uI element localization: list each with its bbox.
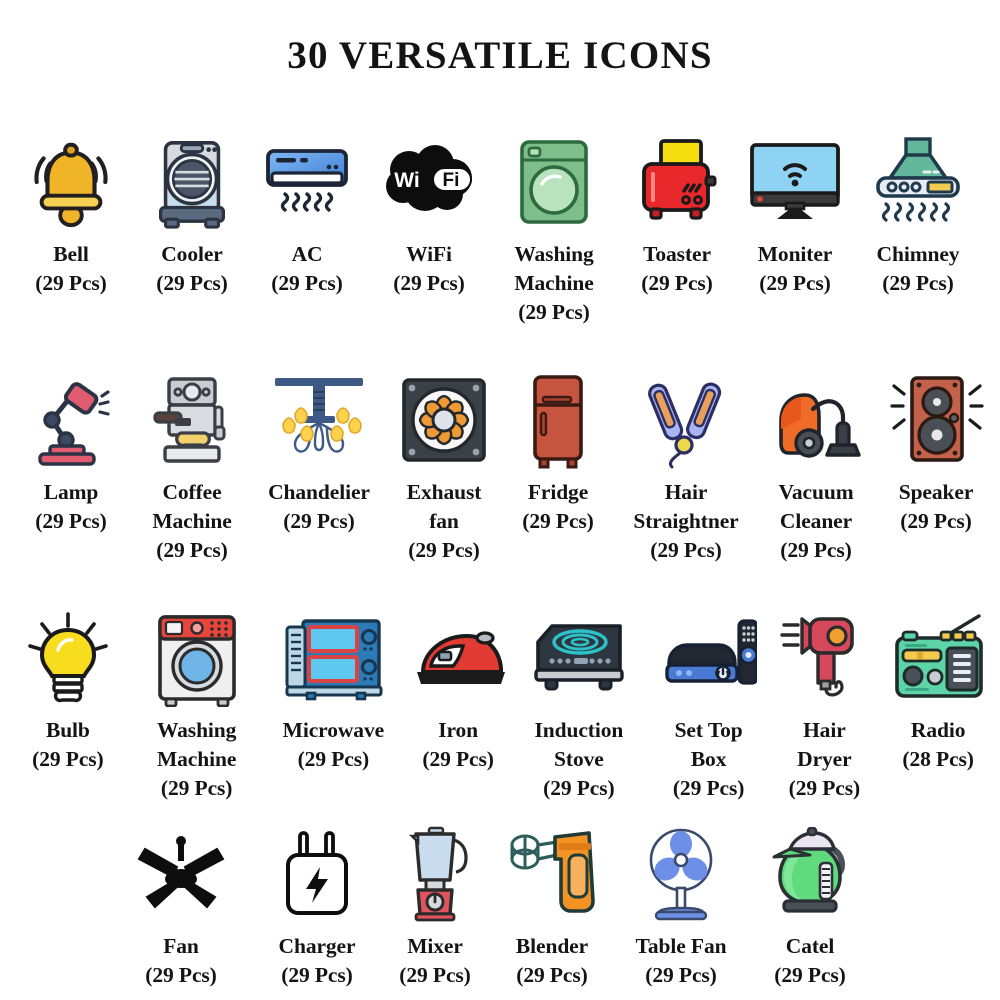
iron-icon bbox=[409, 606, 507, 710]
bulb-icon bbox=[22, 606, 114, 710]
icon-pcs: (29 Pcs) bbox=[271, 269, 342, 298]
icon-cell-hair-dryer[interactable]: Hair Dryer (29 Pcs) bbox=[772, 606, 876, 802]
icon-label: Coffee Machine bbox=[152, 480, 231, 533]
icon-label: Fridge bbox=[528, 480, 588, 504]
icon-cell-washing-machine-1[interactable]: Washing Machine (29 Pcs) bbox=[490, 130, 618, 326]
icon-pcs: (29 Pcs) bbox=[157, 774, 236, 803]
icon-pcs: (29 Pcs) bbox=[156, 269, 227, 298]
icon-pcs: (29 Pcs) bbox=[279, 961, 356, 990]
icon-pcs: (29 Pcs) bbox=[877, 269, 960, 298]
microwave-icon bbox=[281, 606, 385, 710]
icon-cell-ac[interactable]: AC (29 Pcs) bbox=[251, 130, 363, 298]
icon-pcs: (29 Pcs) bbox=[35, 507, 106, 536]
icon-label: Iron bbox=[438, 718, 478, 742]
icon-label: Bell bbox=[53, 242, 88, 266]
icon-cell-fridge[interactable]: Fridge (29 Pcs) bbox=[502, 368, 614, 536]
icon-caption-wifi: WiFi (29 Pcs) bbox=[393, 240, 464, 298]
icon-caption-toaster: Toaster (29 Pcs) bbox=[641, 240, 712, 298]
icon-cell-exhaust-fan[interactable]: Exhaust fan (29 Pcs) bbox=[386, 368, 502, 564]
icon-caption-fridge: Fridge (29 Pcs) bbox=[522, 478, 593, 536]
icon-caption-coffee-machine: Coffee Machine (29 Pcs) bbox=[152, 478, 231, 564]
icon-cell-charger[interactable]: Charger (29 Pcs) bbox=[254, 822, 380, 990]
page-title: 30 VERSATILE ICONS bbox=[0, 33, 1000, 78]
icon-caption-cooler: Cooler (29 Pcs) bbox=[156, 240, 227, 298]
hair-dryer-icon bbox=[780, 606, 868, 710]
icon-caption-speaker: Speaker (29 Pcs) bbox=[899, 478, 974, 536]
table-fan-icon bbox=[642, 822, 720, 926]
icon-pcs: (29 Pcs) bbox=[774, 961, 845, 990]
icon-label: Microwave bbox=[283, 718, 384, 742]
washing-machine-green-icon bbox=[512, 130, 596, 234]
icon-caption-hair-dryer: Hair Dryer (29 Pcs) bbox=[789, 716, 860, 802]
icon-label: Vacuum Cleaner bbox=[778, 480, 853, 533]
ac-icon bbox=[257, 130, 357, 234]
icon-pcs: (29 Pcs) bbox=[283, 745, 384, 774]
icon-caption-table-fan: Table Fan (29 Pcs) bbox=[636, 932, 727, 990]
icon-label: Washing Machine bbox=[514, 242, 593, 295]
icon-cell-fan[interactable]: Fan (29 Pcs) bbox=[120, 822, 242, 990]
icon-caption-induction-stove: Induction Stove (29 Pcs) bbox=[535, 716, 624, 802]
icon-caption-exhaust-fan: Exhaust fan (29 Pcs) bbox=[407, 478, 482, 564]
icon-pcs: (29 Pcs) bbox=[789, 774, 860, 803]
washing-machine-icon bbox=[150, 606, 244, 710]
set-top-box-icon bbox=[661, 606, 757, 710]
icon-label: AC bbox=[292, 242, 323, 266]
icon-pcs: (29 Pcs) bbox=[673, 774, 744, 803]
icon-cell-lamp[interactable]: Lamp (29 Pcs) bbox=[12, 368, 130, 536]
icon-pcs: (29 Pcs) bbox=[393, 269, 464, 298]
hair-straightener-icon bbox=[638, 368, 734, 472]
kettle-icon bbox=[764, 822, 856, 926]
icon-cell-chimney[interactable]: Chimney (29 Pcs) bbox=[854, 130, 982, 298]
icon-caption-set-top-box: Set Top Box (29 Pcs) bbox=[673, 716, 744, 802]
icon-label: Speaker bbox=[899, 480, 974, 504]
blender-icon bbox=[505, 822, 599, 926]
icon-pcs: (29 Pcs) bbox=[636, 961, 727, 990]
icon-caption-radio: Radio (28 Pcs) bbox=[902, 716, 973, 774]
icon-cell-chandelier[interactable]: Chandelier (29 Pcs) bbox=[254, 368, 384, 536]
icon-caption-iron: Iron (29 Pcs) bbox=[422, 716, 493, 774]
icon-pcs: (29 Pcs) bbox=[522, 507, 593, 536]
ceiling-fan-icon bbox=[133, 822, 229, 926]
icon-label: Mixer bbox=[407, 934, 463, 958]
icon-label: Blender bbox=[516, 934, 588, 958]
icon-pcs: (29 Pcs) bbox=[516, 961, 588, 990]
coffee-machine-icon bbox=[147, 368, 237, 472]
icon-label: Lamp bbox=[44, 480, 99, 504]
lamp-icon bbox=[22, 368, 120, 472]
icon-cell-toaster[interactable]: Toaster (29 Pcs) bbox=[618, 130, 736, 298]
icon-cell-kettle[interactable]: Catel (29 Pcs) bbox=[748, 822, 872, 990]
icon-cell-washing-machine-2[interactable]: Washing Machine (29 Pcs) bbox=[130, 606, 264, 802]
icon-caption-lamp: Lamp (29 Pcs) bbox=[35, 478, 106, 536]
mixer-icon bbox=[398, 822, 472, 926]
icon-pcs: (29 Pcs) bbox=[778, 536, 853, 565]
icon-cell-radio[interactable]: Radio (28 Pcs) bbox=[876, 606, 1000, 774]
icon-label: Hair Straightner bbox=[633, 480, 738, 533]
icon-pcs: (29 Pcs) bbox=[641, 269, 712, 298]
chandelier-icon bbox=[269, 368, 369, 472]
icon-label: Catel bbox=[786, 934, 834, 958]
icon-cell-induction-stove[interactable]: Induction Stove (29 Pcs) bbox=[513, 606, 645, 802]
icon-caption-charger: Charger (29 Pcs) bbox=[279, 932, 356, 990]
icon-cell-bell[interactable]: Bell (29 Pcs) bbox=[12, 130, 130, 298]
icon-label: Charger bbox=[279, 934, 356, 958]
charger-icon bbox=[276, 822, 358, 926]
icon-caption-fan: Fan (29 Pcs) bbox=[145, 932, 216, 990]
icon-label: WiFi bbox=[406, 242, 452, 266]
icon-pcs: (29 Pcs) bbox=[399, 961, 470, 990]
icon-pcs: (29 Pcs) bbox=[758, 269, 833, 298]
bell-icon bbox=[22, 130, 120, 234]
icon-pcs: (29 Pcs) bbox=[535, 774, 624, 803]
vacuum-cleaner-icon bbox=[769, 368, 863, 472]
icon-cell-coffee-machine[interactable]: Coffee Machine (29 Pcs) bbox=[130, 368, 254, 564]
icon-caption-washing-machine-1: Washing Machine (29 Pcs) bbox=[514, 240, 593, 326]
icon-caption-monitor: Moniter (29 Pcs) bbox=[758, 240, 833, 298]
icon-caption-blender: Blender (29 Pcs) bbox=[516, 932, 588, 990]
icon-cell-monitor[interactable]: Moniter (29 Pcs) bbox=[736, 130, 854, 298]
toaster-icon bbox=[630, 130, 724, 234]
induction-stove-icon bbox=[530, 606, 628, 710]
icon-pcs: (29 Pcs) bbox=[514, 298, 593, 327]
icon-row-3: Bulb (29 Pcs) bbox=[0, 606, 1000, 802]
icon-label: Chimney bbox=[877, 242, 960, 266]
icon-label: Fan bbox=[163, 934, 199, 958]
icon-label: Hair Dryer bbox=[797, 718, 851, 771]
icon-set-page: 30 VERSATILE ICONS Bell (29 Pcs) bbox=[0, 0, 1000, 1000]
radio-icon bbox=[887, 606, 989, 710]
icon-row-4: Fan (29 Pcs) Charger (29 Pcs) bbox=[0, 822, 1000, 990]
icon-pcs: (29 Pcs) bbox=[152, 536, 231, 565]
icon-cell-iron[interactable]: Iron (29 Pcs) bbox=[403, 606, 513, 774]
icon-pcs: (29 Pcs) bbox=[899, 507, 974, 536]
icon-cell-table-fan[interactable]: Table Fan (29 Pcs) bbox=[614, 822, 748, 990]
chimney-icon bbox=[868, 130, 968, 234]
icon-caption-vacuum-cleaner: Vacuum Cleaner (29 Pcs) bbox=[778, 478, 853, 564]
icon-cell-microwave[interactable]: Microwave (29 Pcs) bbox=[264, 606, 404, 774]
icon-cell-hair-straightener[interactable]: Hair Straightner (29 Pcs) bbox=[614, 368, 758, 564]
icon-label: Chandelier bbox=[268, 480, 370, 504]
icon-label: Moniter bbox=[758, 242, 833, 266]
icon-pcs: (29 Pcs) bbox=[633, 536, 738, 565]
svg-text:Fi: Fi bbox=[443, 170, 460, 191]
icon-caption-kettle: Catel (29 Pcs) bbox=[774, 932, 845, 990]
icon-caption-mixer: Mixer (29 Pcs) bbox=[399, 932, 470, 990]
icon-label: Exhaust fan bbox=[407, 480, 482, 533]
icon-label: Toaster bbox=[643, 242, 711, 266]
icon-pcs: (28 Pcs) bbox=[902, 745, 973, 774]
cooler-icon bbox=[147, 130, 237, 234]
icon-cell-speaker[interactable]: Speaker (29 Pcs) bbox=[874, 368, 998, 536]
speaker-icon bbox=[886, 368, 986, 472]
icon-label: Bulb bbox=[46, 718, 90, 742]
icon-cell-blender[interactable]: Blender (29 Pcs) bbox=[490, 822, 614, 990]
icon-pcs: (29 Pcs) bbox=[35, 269, 106, 298]
icon-caption-ac: AC (29 Pcs) bbox=[271, 240, 342, 298]
icon-caption-chandelier: Chandelier (29 Pcs) bbox=[268, 478, 370, 536]
icon-caption-bulb: Bulb (29 Pcs) bbox=[32, 716, 103, 774]
icon-cell-set-top-box[interactable]: Set Top Box (29 Pcs) bbox=[645, 606, 773, 802]
icon-row-2: Lamp (29 Pcs) bbox=[0, 368, 1000, 564]
icon-cell-bulb[interactable]: Bulb (29 Pcs) bbox=[10, 606, 126, 774]
icon-pcs: (29 Pcs) bbox=[422, 745, 493, 774]
icon-caption-bell: Bell (29 Pcs) bbox=[35, 240, 106, 298]
icon-pcs: (29 Pcs) bbox=[268, 507, 370, 536]
icon-caption-washing-machine-2: Washing Machine (29 Pcs) bbox=[157, 716, 236, 802]
icon-caption-chimney: Chimney (29 Pcs) bbox=[877, 240, 960, 298]
wifi-icon: Wi Fi bbox=[377, 130, 481, 234]
icon-label: Cooler bbox=[161, 242, 223, 266]
icon-pcs: (29 Pcs) bbox=[407, 536, 482, 565]
icon-cell-cooler[interactable]: Cooler (29 Pcs) bbox=[133, 130, 251, 298]
icon-cell-vacuum-cleaner[interactable]: Vacuum Cleaner (29 Pcs) bbox=[758, 368, 874, 564]
icon-pcs: (29 Pcs) bbox=[32, 745, 103, 774]
icon-pcs: (29 Pcs) bbox=[145, 961, 216, 990]
svg-text:Wi: Wi bbox=[394, 169, 419, 192]
fridge-icon bbox=[523, 368, 593, 472]
icon-caption-hair-straightener: Hair Straightner (29 Pcs) bbox=[633, 478, 738, 564]
icon-label: Set Top Box bbox=[675, 718, 743, 771]
monitor-icon bbox=[744, 130, 846, 234]
icon-cell-wifi[interactable]: Wi Fi WiFi (29 Pcs) bbox=[369, 130, 489, 298]
icon-row-1: Bell (29 Pcs) bbox=[0, 130, 1000, 326]
icon-label: Washing Machine bbox=[157, 718, 236, 771]
icon-caption-microwave: Microwave (29 Pcs) bbox=[283, 716, 384, 774]
icon-label: Table Fan bbox=[636, 934, 727, 958]
icon-label: Radio bbox=[911, 718, 965, 742]
icon-label: Induction Stove bbox=[535, 718, 624, 771]
exhaust-fan-icon bbox=[398, 368, 490, 472]
icon-cell-mixer[interactable]: Mixer (29 Pcs) bbox=[380, 822, 490, 990]
